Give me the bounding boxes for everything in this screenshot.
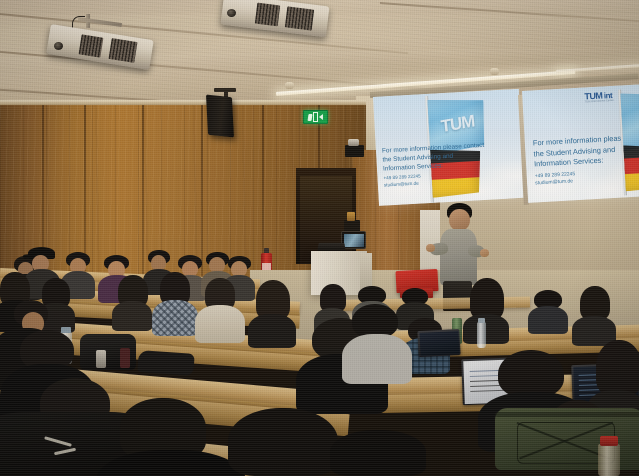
long-hair	[596, 340, 639, 396]
torso	[528, 306, 568, 334]
torso	[463, 314, 509, 344]
long-hair	[580, 286, 610, 320]
wall-camera	[348, 139, 359, 146]
projector-vent	[109, 38, 138, 63]
projector-left	[48, 24, 153, 76]
monitor-image	[344, 234, 364, 247]
hair	[498, 350, 564, 398]
projection-screen-right: TUM int TUM International Center For mor…	[522, 84, 639, 203]
bottle-cap	[61, 327, 71, 333]
projector-vent	[79, 34, 104, 57]
projection-screen-left: TUM For more information please contact …	[373, 89, 525, 206]
backpack-bottle	[96, 350, 106, 368]
torso	[195, 305, 245, 343]
presenter-hand-right	[480, 249, 489, 257]
bottle-cap-red	[600, 436, 618, 446]
tum-int-logo: TUM int TUM International Center	[584, 91, 614, 104]
projector-vent	[255, 3, 280, 27]
torso	[112, 301, 152, 331]
lectern-cup	[347, 212, 355, 221]
laptop-screen	[419, 330, 459, 355]
ceiling-spotlight	[285, 82, 294, 89]
water-bottle-bottom	[598, 444, 620, 476]
wall-trim	[0, 100, 366, 105]
projector-lens	[54, 42, 63, 50]
dark-laptop[interactable]	[417, 329, 460, 357]
hair	[228, 408, 338, 476]
presenter-torso	[440, 229, 477, 285]
projector-lens	[227, 9, 236, 17]
water-bottle	[477, 322, 486, 348]
folded-jacket	[137, 350, 194, 376]
hair	[330, 430, 426, 476]
backpack-item	[120, 348, 130, 368]
exit-arrow-icon	[319, 114, 323, 120]
exit-running-man-icon	[307, 114, 312, 121]
torso	[248, 314, 296, 348]
torso	[342, 334, 412, 384]
lecture-hall-photo: TUM For more information please contact …	[0, 0, 639, 476]
wall-speaker	[206, 94, 234, 137]
slide-body-text-right: For more information pleas the Student A…	[533, 132, 639, 187]
hair	[352, 304, 398, 338]
presenter-hand-left	[426, 244, 435, 252]
exit-door-icon	[313, 112, 318, 122]
torso	[152, 300, 198, 336]
bottle-cap	[478, 318, 485, 323]
exit-sign	[303, 110, 328, 124]
projector-vent	[285, 6, 314, 30]
projector-right	[222, 0, 332, 44]
wall-camera-mount	[345, 145, 364, 157]
presenter-head	[449, 209, 470, 231]
ceiling-spotlight	[490, 68, 499, 75]
slide-body-text: For more information please contact the …	[382, 141, 492, 189]
wood-panel-seam	[142, 104, 144, 294]
backpack-strap	[495, 412, 639, 417]
